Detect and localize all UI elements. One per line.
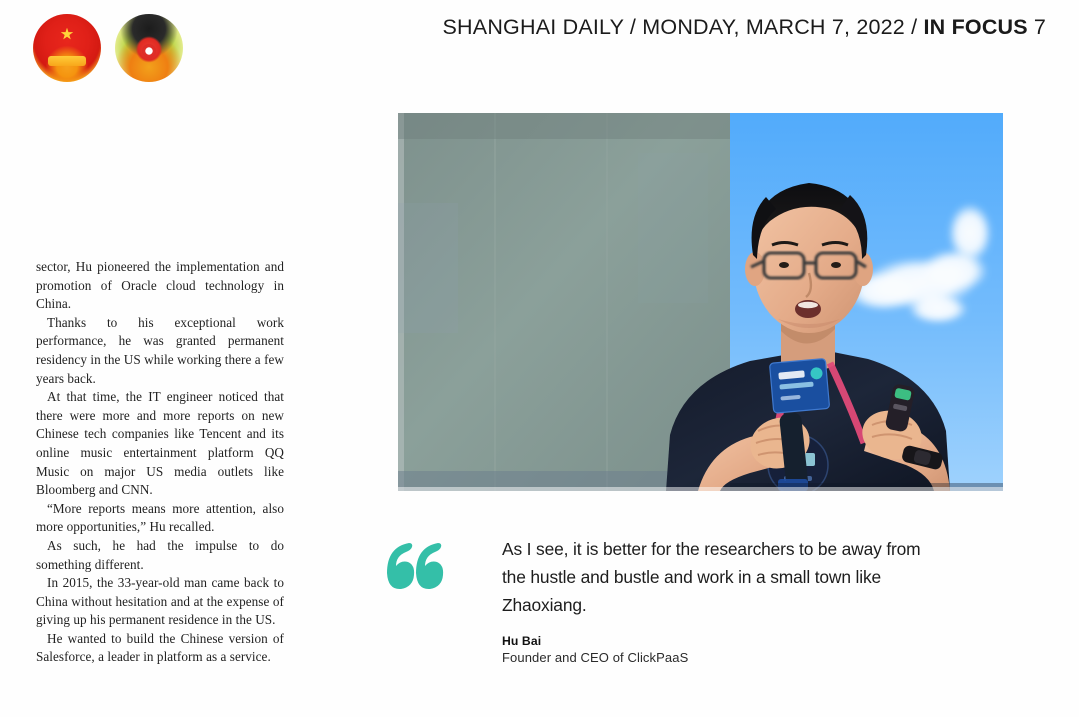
article-paragraph: Thanks to his exceptional work performan… [36,314,284,388]
quote-author-name: Hu Bai [502,633,942,649]
quote-author-role: Founder and CEO of ClickPaaS [502,649,942,667]
page-number: 7 [1034,15,1046,39]
cppcc-emblem-icon [115,14,183,82]
article-paragraph: “More reports means more attention, also… [36,500,284,537]
emblem-group [33,14,183,82]
article-paragraph: He wanted to build the Chinese version o… [36,630,284,667]
publication-name: SHANGHAI DAILY [443,15,624,39]
national-emblem-of-china-icon [33,14,101,82]
article-body-column: sector, Hu pioneered the implementation … [36,258,284,667]
quote-text: As I see, it is better for the researche… [502,535,942,619]
header-separator-1: / [624,15,643,39]
photo-illustration [398,113,1003,491]
quote-body: As I see, it is better for the researche… [502,535,942,667]
article-paragraph: At that time, the IT engineer noticed th… [36,388,284,500]
article-paragraph: sector, Hu pioneered the implementation … [36,258,284,314]
article-paragraph: In 2015, the 33-year-old man came back t… [36,574,284,630]
article-photo [398,113,1003,491]
quote-attribution: Hu Bai Founder and CEO of ClickPaaS [502,633,942,667]
newspaper-page: SHANGHAI DAILY / MONDAY, MARCH 7, 2022 /… [0,0,1079,717]
publication-date: MONDAY, MARCH 7, 2022 [642,15,905,39]
section-name: IN FOCUS [924,15,1028,39]
header-separator-2: / [905,15,924,39]
page-header: SHANGHAI DAILY / MONDAY, MARCH 7, 2022 /… [443,15,1046,40]
masthead: SHANGHAI DAILY / MONDAY, MARCH 7, 2022 /… [0,0,1079,92]
article-paragraph: As such, he had the impulse to do someth… [36,537,284,574]
quotation-mark-icon [383,541,445,593]
